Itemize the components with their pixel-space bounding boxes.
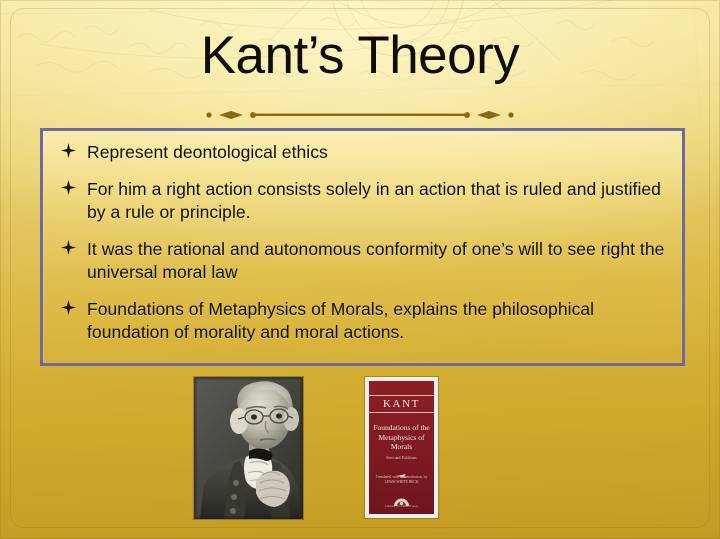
list-item: Represent deontological ethics (57, 141, 668, 164)
kant-book-cover: KANT Foundations of the Metaphysics of M… (365, 377, 438, 518)
book-title: Foundations of the Metaphysics of Morals (369, 423, 434, 452)
four-pointed-star-icon (57, 298, 87, 315)
four-pointed-star-icon (57, 238, 87, 255)
page-title: Kant’s Theory (0, 26, 720, 86)
list-item: It was the rational and autonomous confo… (57, 238, 668, 284)
book-edition: Second Edition (369, 455, 434, 460)
four-pointed-star-icon (57, 141, 87, 158)
list-item-text: Represent deontological ethics (87, 141, 668, 164)
list-item-text: It was the rational and autonomous confo… (87, 238, 668, 284)
list-item: For him a right action consists solely i… (57, 178, 668, 224)
list-item-text: Foundations of Metaphysics of Morals, ex… (87, 298, 668, 344)
four-pointed-star-icon (57, 178, 87, 195)
list-item-text: For him a right action consists solely i… (87, 178, 668, 224)
book-ornament-icon (397, 465, 406, 469)
publisher-logo-icon (394, 493, 409, 502)
book-cover-front: KANT Foundations of the Metaphysics of M… (369, 381, 434, 514)
immanuel-kant-portrait (194, 377, 303, 519)
slide: Kant’s Theory (0, 0, 720, 539)
content-box: Represent deontological ethics For him a… (40, 128, 685, 366)
book-translator: Translated, with an Introduction, by LEW… (369, 475, 434, 485)
list-item: Foundations of Metaphysics of Morals, ex… (57, 298, 668, 344)
ornamental-divider-icon (205, 108, 515, 122)
book-publisher: Library of Liberal Arts (369, 504, 434, 508)
bullet-list: Represent deontological ethics For him a… (43, 131, 682, 344)
book-author: KANT (369, 395, 434, 413)
